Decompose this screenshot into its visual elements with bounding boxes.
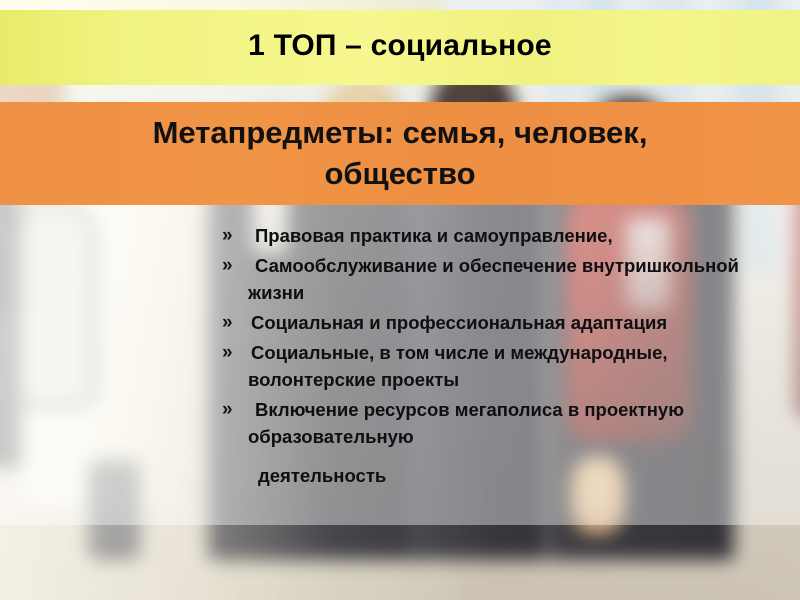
slide-title: 1 ТОП – социальное	[248, 29, 552, 67]
heading-line-2: общество	[324, 154, 475, 195]
list-item-continuation: деятельность	[248, 462, 782, 489]
list-item-label: Правовая практика и самоуправление,	[248, 222, 782, 249]
list-item-label: Социальная и профессиональная адаптация	[248, 309, 782, 336]
yellow-title-banner: 1 ТОП – социальное	[0, 10, 800, 85]
orange-heading-banner: Метапредметы: семья, человек, общество	[0, 102, 800, 205]
bullet-marker-icon: »	[222, 222, 248, 249]
list-item: » Правовая практика и самоуправление,	[222, 222, 782, 249]
list-item-label: Самообслуживание и обеспечение внутришко…	[248, 252, 782, 306]
list-item-label: Социальные, в том числе и международные,…	[248, 339, 782, 393]
bullet-marker-icon: »	[222, 339, 248, 366]
list-item-label: Включение ресурсов мегаполиса в проектну…	[248, 396, 782, 450]
bullet-marker-icon: »	[222, 252, 248, 279]
bullet-marker-icon: »	[222, 396, 248, 423]
list-item: » Самообслуживание и обеспечение внутриш…	[222, 252, 782, 306]
list-item: » Включение ресурсов мегаполиса в проект…	[222, 396, 782, 450]
list-item: » Социальная и профессиональная адаптаци…	[222, 309, 782, 336]
slide: 1 ТОП – социальное Метапредметы: семья, …	[0, 0, 800, 600]
bullet-marker-icon: »	[222, 309, 248, 336]
heading-line-1: Метапредметы: семья, человек,	[153, 113, 648, 154]
bullet-list: » Правовая практика и самоуправление, » …	[222, 222, 782, 489]
list-item: » Социальные, в том числе и международны…	[222, 339, 782, 393]
